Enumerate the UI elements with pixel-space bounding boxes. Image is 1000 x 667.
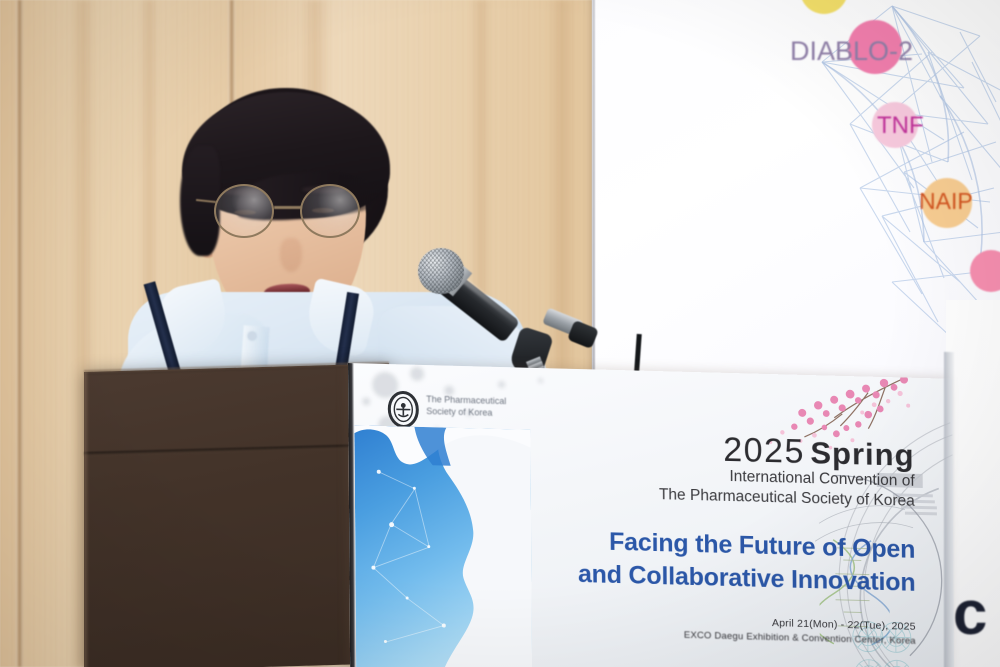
event-season: Spring	[810, 435, 914, 473]
podium-left-edge	[84, 372, 89, 667]
banner-right-edge	[944, 352, 954, 667]
eyeglass-lens-right	[300, 184, 360, 238]
conference-banner: The Pharmaceutical Society of Korea	[348, 363, 954, 667]
microphone-mesh-icon	[418, 248, 464, 294]
graph-node-label-tnf: TNF	[877, 112, 924, 140]
event-year: 2025	[723, 431, 805, 471]
podium	[84, 363, 389, 667]
banner-text-block: 2025 Spring International Convention of …	[577, 429, 916, 647]
photo-canvas: DIABLO-2 TNF NAIP	[0, 0, 1000, 667]
graph-node-label-naip: NAIP	[919, 188, 973, 215]
eyeglasses	[212, 184, 382, 240]
graph-node-label-diablo2: DIABLO-2	[790, 36, 913, 67]
constellation-lines	[354, 425, 532, 667]
psk-emblem-icon	[386, 390, 420, 429]
projection-screen: DIABLO-2 TNF NAIP	[592, 0, 1000, 380]
eyeglass-bridge	[274, 206, 302, 209]
face-silhouette-graphic	[354, 425, 532, 667]
eyeglass-lens-left	[214, 184, 274, 238]
society-name-line2: Society of Korea	[426, 405, 506, 419]
molecule-graphic-lower	[852, 650, 914, 667]
wood-panel-seam-left	[16, 0, 23, 667]
shirt-button-top	[248, 332, 256, 340]
podium-horizontal-seam	[84, 443, 389, 456]
society-name: The Pharmaceutical Society of Korea	[426, 393, 506, 419]
bokeh-dot	[498, 381, 505, 388]
bokeh-dot	[410, 367, 424, 381]
bokeh-dot	[362, 397, 370, 405]
bokeh-dot	[538, 378, 543, 383]
event-headline: Facing the Future of Open and Collaborat…	[578, 525, 916, 601]
